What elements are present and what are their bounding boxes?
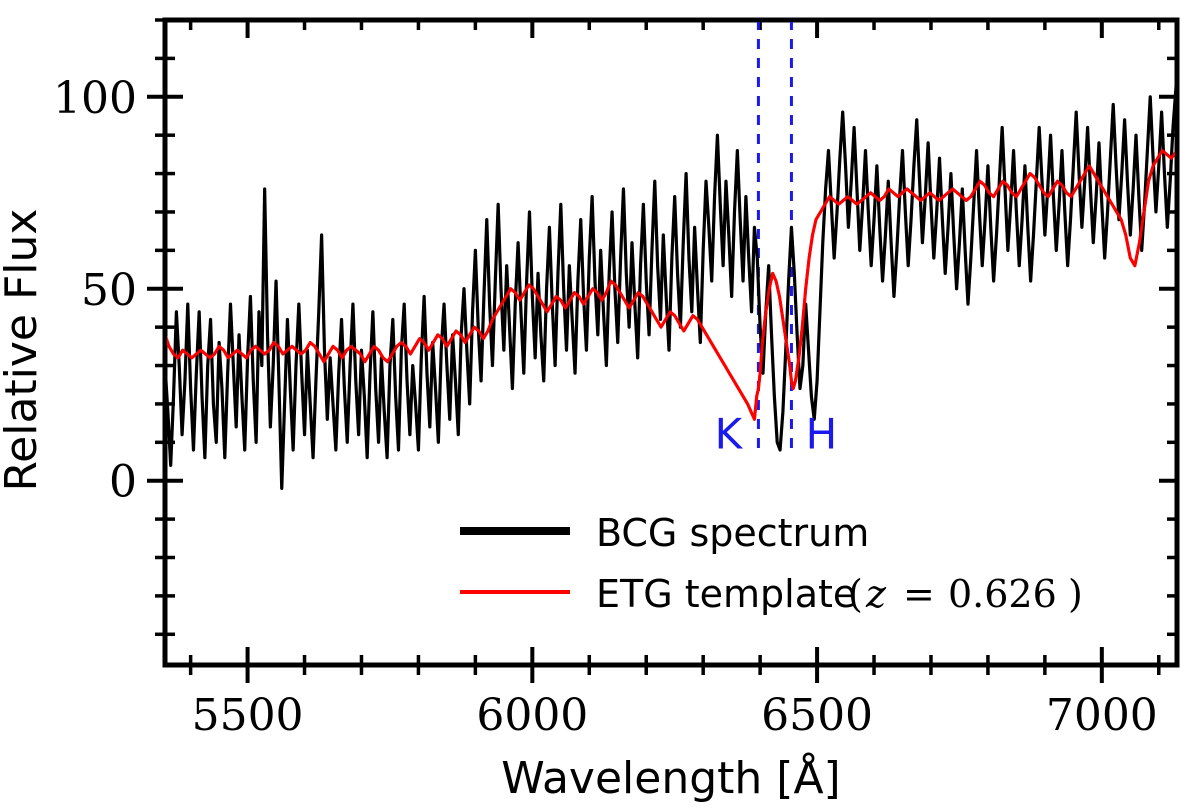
- x-axis-title: Wavelength [Å]: [501, 751, 840, 804]
- y-axis-title: Relative Flux: [0, 209, 47, 492]
- x-tick-label: 5500: [192, 690, 304, 741]
- x-tick-label: 6500: [761, 690, 873, 741]
- legend-equals-sign: =: [903, 572, 935, 616]
- y-tick-label: 0: [109, 457, 137, 508]
- legend-redshift-symbol: z: [865, 572, 887, 616]
- x-tick-label: 6000: [476, 690, 588, 741]
- y-tick-label: 100: [53, 73, 137, 124]
- spectrum-figure: 5500600065007000 050100 KH Wavelength [Å…: [0, 0, 1200, 809]
- x-tick-label: 7000: [1046, 690, 1158, 741]
- spectral-line-label-h: H: [806, 409, 838, 458]
- legend-label-etg-template: ETG template: [596, 572, 856, 616]
- legend-paren-close: ): [1068, 572, 1083, 616]
- legend-label-bcg-spectrum: BCG spectrum: [596, 511, 869, 555]
- spectral-line-label-k: K: [715, 409, 744, 458]
- legend-paren-open: (: [848, 572, 863, 616]
- chart-canvas: 5500600065007000 050100 KH Wavelength [Å…: [0, 0, 1200, 809]
- legend-redshift-value: 0.626: [948, 572, 1057, 616]
- y-tick-label: 50: [81, 265, 137, 316]
